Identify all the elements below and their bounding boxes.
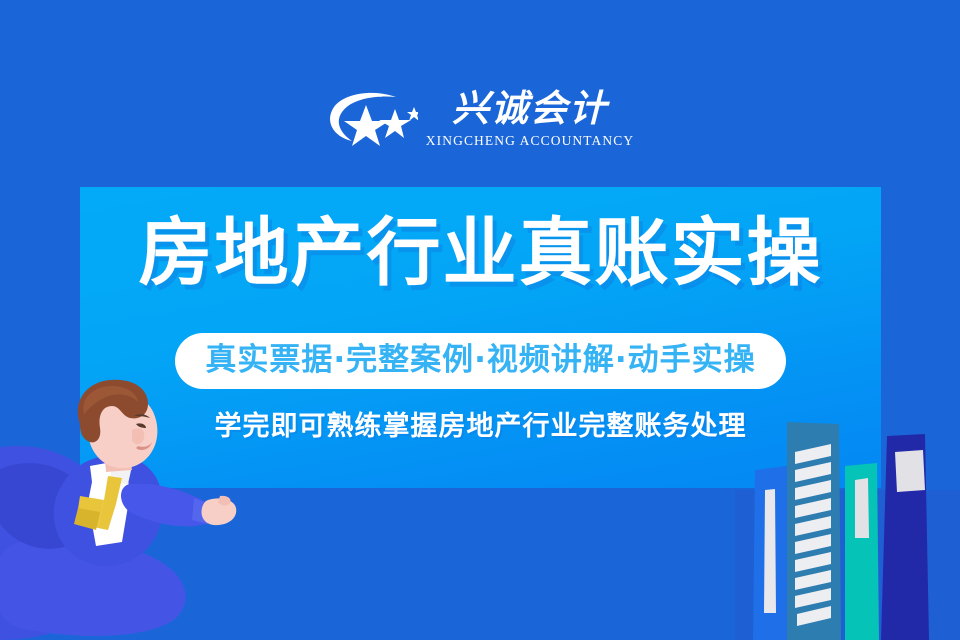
brand-name-en: XINGCHENG ACCOUNTANCY [426,133,634,149]
city-buildings-illustration [735,408,960,640]
building-striped-steel [787,422,841,640]
building-teal [845,463,879,640]
promo-poster: 兴诚会计 XINGCHENG ACCOUNTANCY 房地产行业真账实操 真实票… [0,0,960,640]
crescent-three-stars-logo-icon [326,91,418,147]
businessman-running-illustration [0,378,280,640]
brand-name-cn: 兴诚会计 [452,90,608,130]
brand-logo: 兴诚会计 XINGCHENG ACCOUNTANCY [0,78,960,160]
page-title: 房地产行业真账实操 [80,212,881,294]
building-navy [881,434,929,640]
building-light-blue [753,466,789,640]
